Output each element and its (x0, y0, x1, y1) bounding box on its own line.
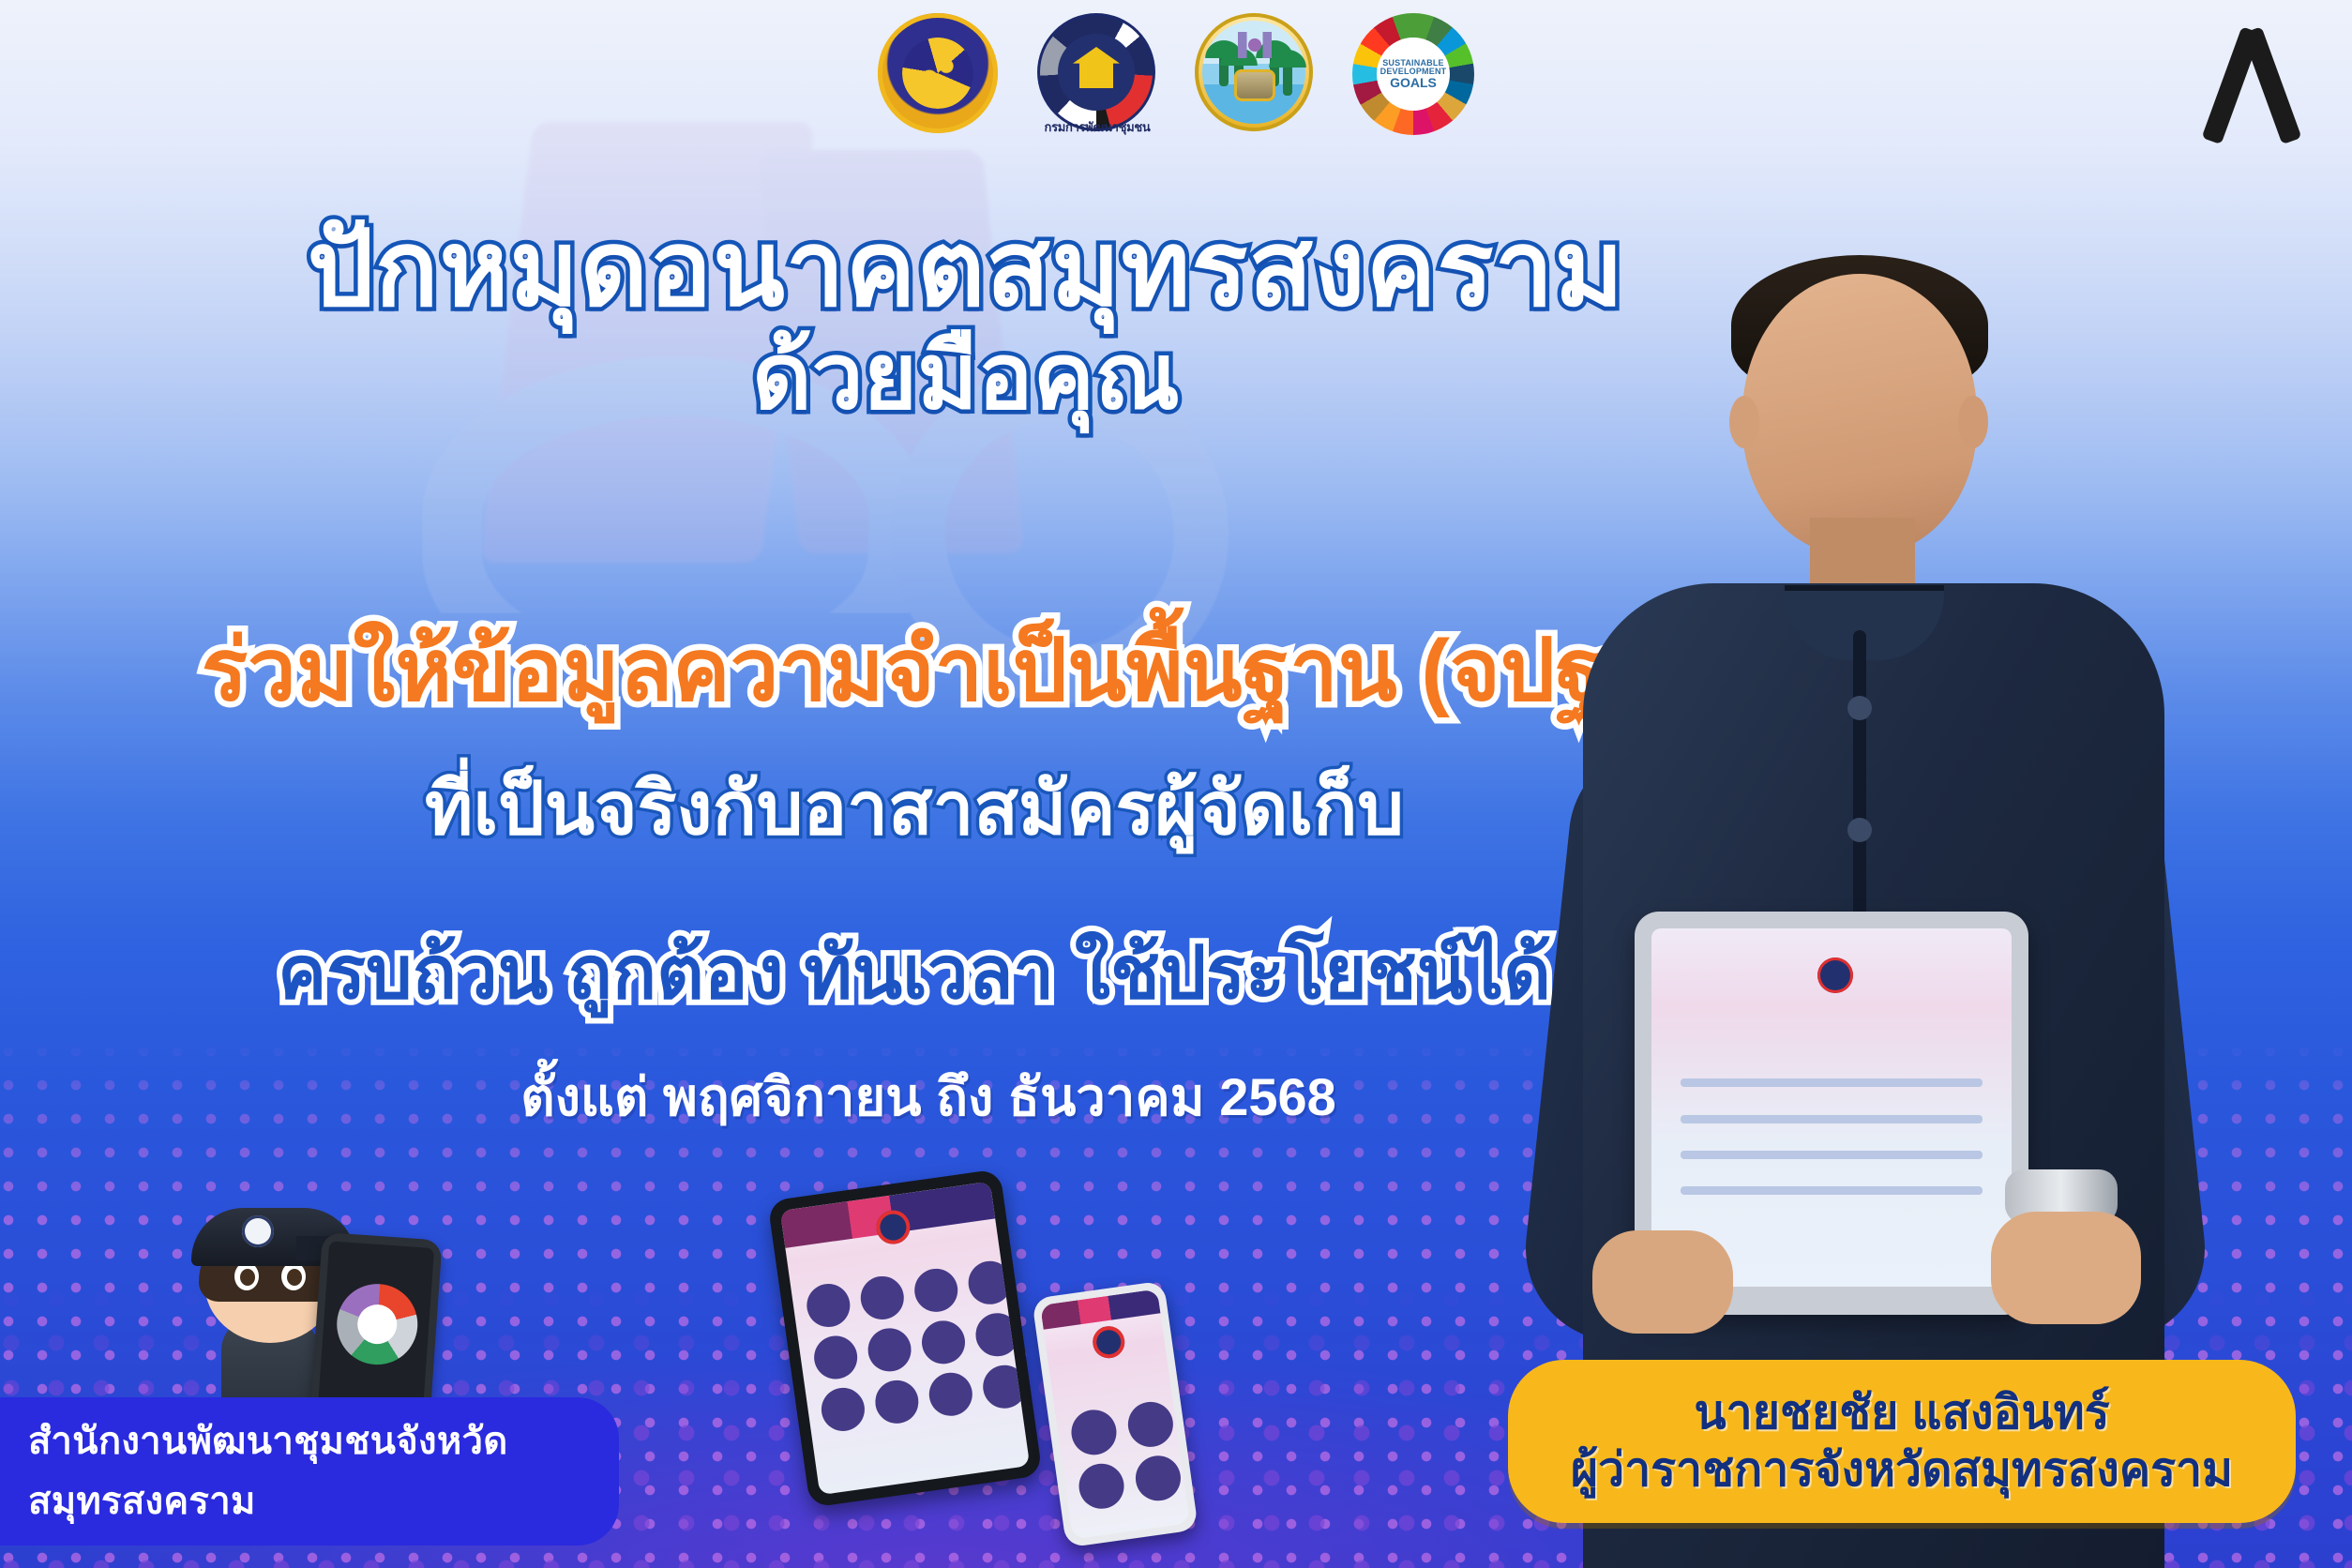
ministry-of-interior-seal-icon (878, 13, 998, 133)
province-seal-icon (1195, 13, 1313, 131)
cdd-seal-label: กรมการพัฒนาชุมชน (1032, 117, 1163, 137)
office-footer-label: สำนักงานพัฒนาชุมชนจังหวัดสมุทรสงคราม (28, 1421, 508, 1522)
governor-name: นายชยชัย แสงอินทร์ (1536, 1384, 2268, 1441)
poster-canvas: กรมการพัฒนาชุมชน SUSTAINABLE DEVELOPMENT… (0, 0, 2352, 1568)
logo-row: กรมการพัฒนาชุมชน SUSTAINABLE DEVELOPMENT… (0, 13, 2352, 163)
cdd-seal-icon: กรมการพัฒนาชุมชน (1037, 13, 1155, 131)
governor-name-badge: นายชยชัย แสงอินทร์ ผู้ว่าราชการจังหวัดสม… (1508, 1360, 2296, 1523)
mourning-ribbon-icon (2206, 21, 2296, 152)
office-footer-badge: สำนักงานพัฒนาชุมชนจังหวัดสมุทรสงคราม (0, 1397, 619, 1545)
phone-mockup (1032, 1280, 1199, 1547)
app-device-mockups (778, 1174, 1182, 1540)
governor-title: ผู้ว่าราชการจังหวัดสมุทรสงคราม (1536, 1441, 2268, 1499)
sdg-wheel-icon: SUSTAINABLE DEVELOPMENT GOALS (1352, 13, 1474, 135)
sdg-line-3: GOALS (1390, 76, 1437, 89)
mascot-pie-chart (334, 1281, 420, 1367)
tablet-mockup (767, 1168, 1042, 1508)
